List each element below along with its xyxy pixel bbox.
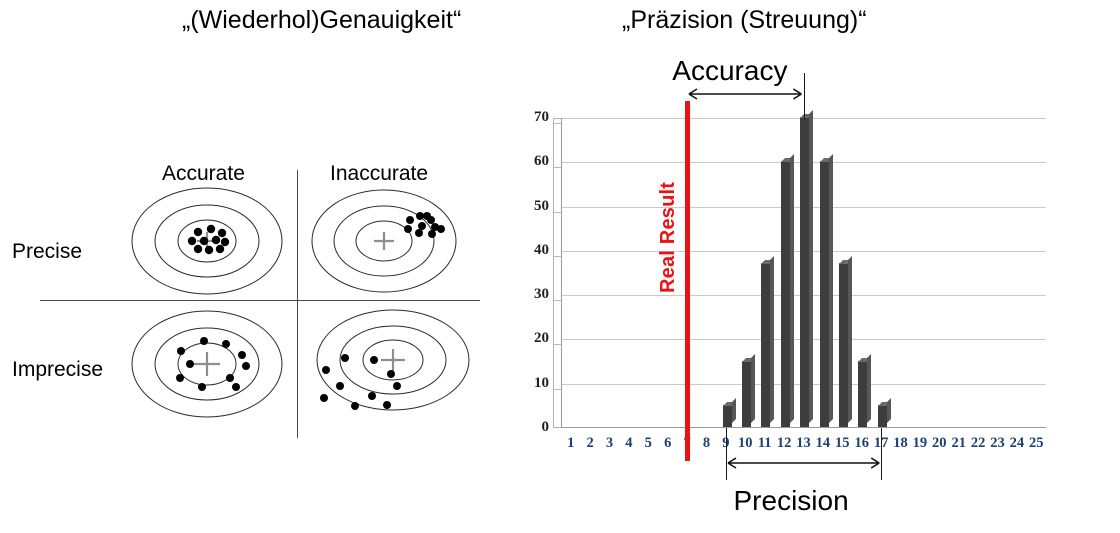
quadrant-column-header-accurate: Accurate xyxy=(162,162,245,186)
x-axis-tick-4: 4 xyxy=(619,435,638,452)
x-axis-tick-8: 8 xyxy=(697,435,716,452)
x-axis-tick-20: 20 xyxy=(930,435,949,452)
x-axis-tick-2: 2 xyxy=(580,435,599,452)
x-axis-tick-21: 21 xyxy=(949,435,968,452)
target-precise-inaccurate xyxy=(310,185,465,297)
plot-area xyxy=(561,118,1046,428)
y-axis-tick-60: 60 xyxy=(505,153,549,170)
y-axis-tick-40: 40 xyxy=(505,242,549,259)
real-result-line xyxy=(685,101,690,461)
x-axis-tick-12: 12 xyxy=(774,435,793,452)
x-axis-tick-6: 6 xyxy=(658,435,677,452)
x-axis-tick-15: 15 xyxy=(833,435,852,452)
x-axis-tick-22: 22 xyxy=(968,435,987,452)
accuracy-callout-label: Accuracy xyxy=(672,55,787,87)
left-section-title: „(Wiederhol)Genauigkeit“ xyxy=(182,6,461,35)
precision-callout-label: Precision xyxy=(734,485,849,517)
real-result-label: Real Result xyxy=(657,182,680,293)
quadrant-row-header-imprecise: Imprecise xyxy=(12,358,103,382)
precision-arrow xyxy=(726,455,881,476)
bar-14 xyxy=(820,161,829,427)
target-precise-accurate xyxy=(130,185,285,297)
x-axis-tick-16: 16 xyxy=(852,435,871,452)
precision-left-guide xyxy=(726,428,727,480)
bar-12 xyxy=(781,161,790,427)
accuracy-precision-quadrant-diagram: Accurate Inaccurate Precise Imprecise xyxy=(0,140,480,440)
quadrant-row-header-precise: Precise xyxy=(12,240,82,264)
target-imprecise-accurate xyxy=(130,308,285,420)
bar-17 xyxy=(878,405,887,427)
x-axis-tick-25: 25 xyxy=(1027,435,1046,452)
right-section-title: „Präzision (Streuung)“ xyxy=(622,6,867,35)
x-axis-tick-11: 11 xyxy=(755,435,774,452)
bar-9 xyxy=(723,405,732,427)
x-axis-tick-5: 5 xyxy=(639,435,658,452)
y-axis-tick-20: 20 xyxy=(505,330,549,347)
bar-16 xyxy=(858,361,867,427)
y-axis-tick-labels: 010203040506070 xyxy=(505,55,549,495)
y-axis-tick-30: 30 xyxy=(505,286,549,303)
x-axis-tick-1: 1 xyxy=(561,435,580,452)
target-imprecise-inaccurate xyxy=(305,308,480,433)
x-axis-tick-19: 19 xyxy=(910,435,929,452)
accuracy-arrow xyxy=(687,86,803,107)
x-axis-tick-24: 24 xyxy=(1007,435,1026,452)
accuracy-right-guide xyxy=(804,73,805,120)
quadrant-horizontal-divider-right xyxy=(297,300,480,301)
x-axis-tick-14: 14 xyxy=(813,435,832,452)
y-axis-tick-10: 10 xyxy=(505,375,549,392)
x-axis-tick-3: 3 xyxy=(600,435,619,452)
slide-canvas: „(Wiederhol)Genauigkeit“ „Präzision (Str… xyxy=(0,0,1120,533)
quadrant-vertical-divider xyxy=(297,170,298,438)
x-axis-tick-13: 13 xyxy=(794,435,813,452)
y-axis-tick-50: 50 xyxy=(505,198,549,215)
precision-accuracy-histogram: 010203040506070 123456789101112131415161… xyxy=(505,55,1120,533)
bar-10 xyxy=(742,361,751,427)
x-axis-tick-23: 23 xyxy=(988,435,1007,452)
y-axis-tick-70: 70 xyxy=(505,109,549,126)
x-axis-tick-labels: 1234567891011121314151617181920212223242… xyxy=(561,435,1046,457)
quadrant-horizontal-divider xyxy=(40,300,300,301)
bar-15 xyxy=(839,263,848,427)
bar-11 xyxy=(761,263,770,427)
x-axis-tick-10: 10 xyxy=(736,435,755,452)
x-axis-tick-18: 18 xyxy=(891,435,910,452)
quadrant-column-header-inaccurate: Inaccurate xyxy=(330,162,428,186)
y-axis-tick-0: 0 xyxy=(505,419,549,436)
precision-right-guide xyxy=(881,428,882,480)
bar-13 xyxy=(800,117,809,427)
